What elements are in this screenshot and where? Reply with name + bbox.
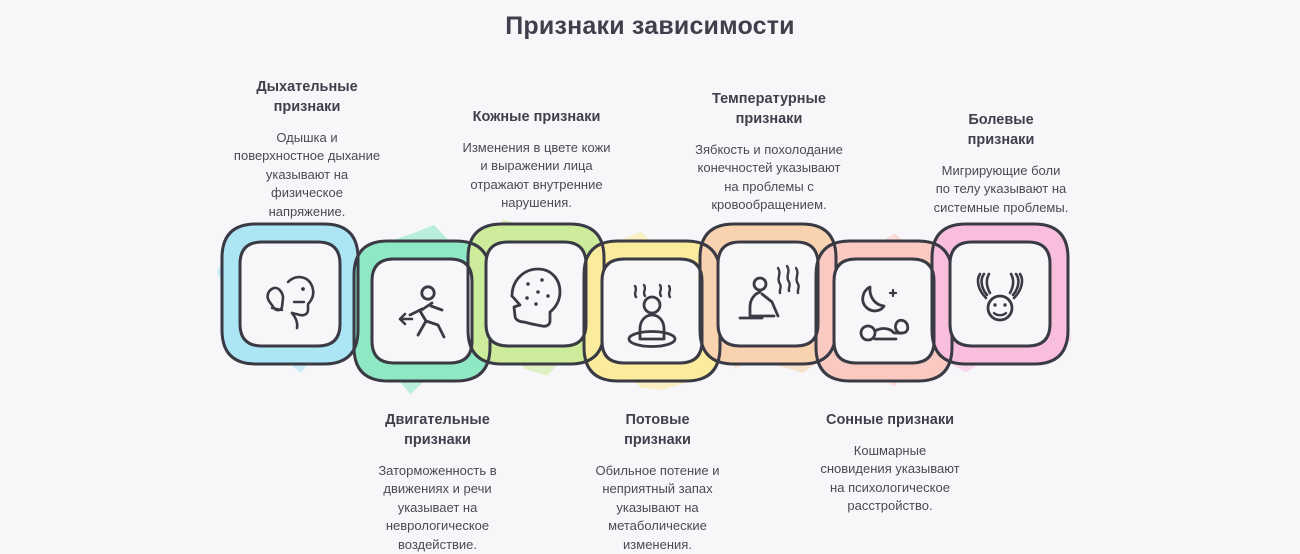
label-block-skin: Кожные признакиИзменения в цвете кожи и … [419, 107, 654, 213]
label-title-sleep: Сонные признаки [790, 410, 990, 430]
label-desc-breathing: Одышка и поверхностное дыхание указывают… [192, 129, 422, 221]
label-block-temperature: Температурные признакиЗябкость и похолод… [650, 89, 888, 215]
label-desc-movement: Заторможенность в движениях и речи указы… [330, 462, 545, 554]
chain-link-breathing[interactable] [222, 224, 358, 364]
page-title: Признаки зависимости [0, 12, 1300, 41]
label-block-pain: Болевые признакиМигрирующие боли по телу… [901, 110, 1101, 217]
label-title-breathing: Дыхательные признаки [192, 77, 422, 117]
label-desc-sweat: Обильное потение и неприятный запах указ… [560, 462, 755, 554]
label-block-breathing: Дыхательные признакиОдышка и поверхностн… [192, 77, 422, 221]
link-inner-fill-skin [486, 242, 586, 346]
label-title-sweat: Потовые признаки [560, 410, 755, 450]
label-title-skin: Кожные признаки [419, 107, 654, 127]
label-desc-sleep: Кошмарные сновидения указывают на психол… [790, 442, 990, 516]
label-block-sleep: Сонные признакиКошмарные сновидения указ… [790, 410, 990, 516]
link-inner-fill-pain [950, 242, 1050, 346]
label-block-sweat: Потовые признакиОбильное потение и непри… [560, 410, 755, 554]
label-desc-temperature: Зябкость и похолодание конечностей указы… [650, 141, 888, 215]
link-inner-fill-sleep [834, 259, 934, 363]
label-desc-pain: Мигрирующие боли по телу указывают на си… [901, 162, 1101, 217]
label-title-temperature: Температурные признаки [650, 89, 888, 129]
label-block-movement: Двигательные признакиЗаторможенность в д… [330, 410, 545, 554]
label-title-movement: Двигательные признаки [330, 410, 545, 450]
link-inner-fill-temperature [718, 242, 818, 346]
label-desc-skin: Изменения в цвете кожи и выражении лица … [419, 139, 654, 213]
label-title-pain: Болевые признаки [901, 110, 1101, 150]
link-inner-fill-breathing [240, 242, 340, 346]
chain-link-movement[interactable] [354, 241, 490, 381]
